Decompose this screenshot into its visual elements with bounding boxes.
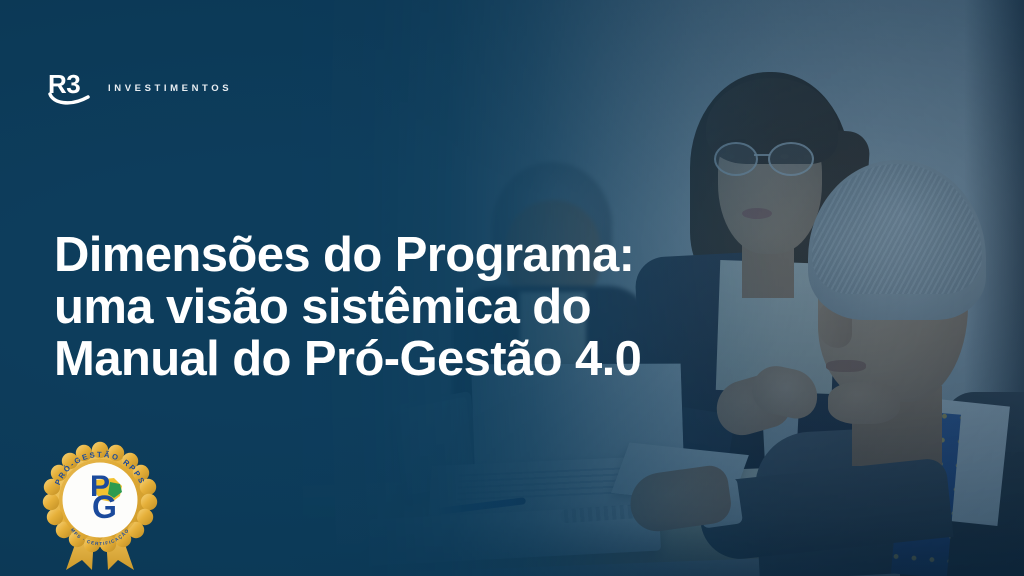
page-title: Dimensões do Programa: uma visão sistêmi… — [54, 229, 641, 385]
pro-gestao-rpps-seal: PRÓ-GESTÃO RPPS MPS · CERTIFICAÇÃO P G — [36, 438, 164, 570]
r3-swoosh-logomark: R3 — [48, 68, 94, 108]
brand-logo[interactable]: R3 INVESTIMENTOS — [48, 68, 232, 108]
svg-text:R3: R3 — [48, 69, 80, 99]
page-title-line-2: uma visão sistêmica do — [54, 281, 641, 333]
cover-slide: R3 INVESTIMENTOS Dimensões do Programa: … — [0, 0, 1024, 576]
svg-text:G: G — [92, 489, 117, 525]
page-title-line-1: Dimensões do Programa: — [54, 229, 641, 281]
page-title-line-3: Manual do Pró-Gestão 4.0 — [54, 333, 641, 385]
logo-wordmark: INVESTIMENTOS — [108, 83, 232, 94]
